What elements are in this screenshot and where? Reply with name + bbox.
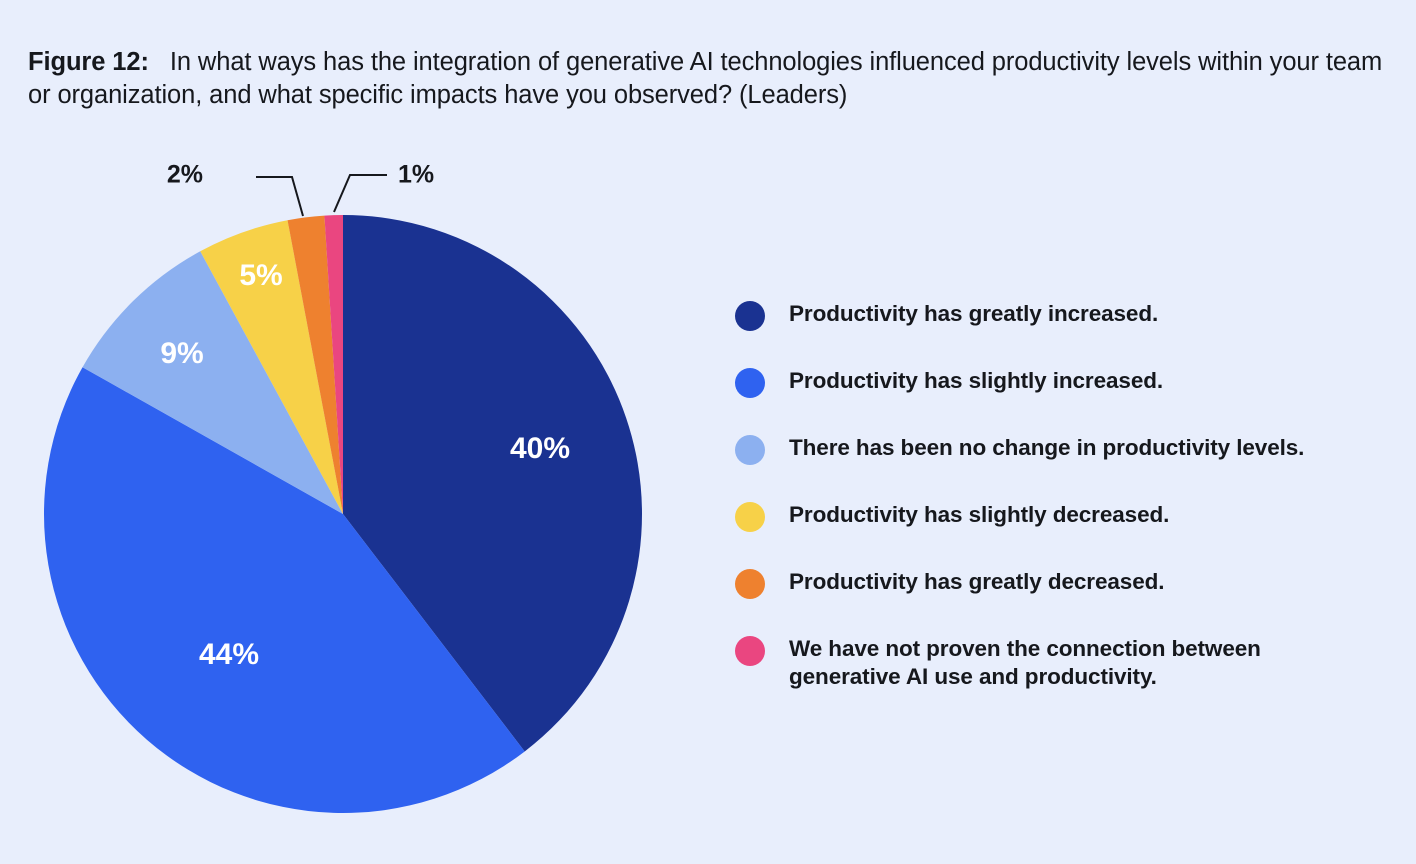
legend-item-label: We have not proven the connection betwee… (789, 635, 1261, 691)
legend-item-label: Productivity has slightly increased. (789, 367, 1163, 395)
pie-chart-svg: 40% 44% 9% 5% 2% 1% (0, 130, 700, 864)
legend-dot-icon (735, 435, 765, 465)
legend-item-label: Productivity has greatly increased. (789, 300, 1158, 328)
legend-item-not-proven[interactable]: We have not proven the connection betwee… (735, 635, 1405, 691)
callout-line-greatly-decreased (256, 177, 303, 216)
pie-callouts: 2% 1% (167, 161, 434, 216)
slice-value-no-change: 9% (160, 337, 203, 370)
slice-value-slightly-increased: 44% (199, 638, 259, 671)
slice-value-greatly-increased: 40% (510, 432, 570, 465)
figure-number-label: Figure 12: (28, 48, 149, 76)
legend-dot-icon (735, 368, 765, 398)
legend-dot-icon (735, 502, 765, 532)
callout-line-not-proven (334, 175, 387, 212)
pie-slices (44, 215, 642, 813)
legend-item-label: Productivity has slightly decreased. (789, 501, 1169, 529)
legend-item-slightly-increased[interactable]: Productivity has slightly increased. (735, 367, 1405, 398)
figure-question-text: In what ways has the integration of gene… (28, 48, 1382, 109)
legend-dot-icon (735, 636, 765, 666)
legend-item-greatly-decreased[interactable]: Productivity has greatly decreased. (735, 568, 1405, 599)
legend-dot-icon (735, 569, 765, 599)
callout-value-not-proven: 1% (398, 161, 434, 189)
slice-value-slightly-decreased: 5% (239, 259, 282, 292)
legend-item-greatly-increased[interactable]: Productivity has greatly increased. (735, 300, 1405, 331)
legend-item-label: Productivity has greatly decreased. (789, 568, 1164, 596)
chart-legend: Productivity has greatly increased. Prod… (735, 300, 1405, 691)
legend-item-slightly-decreased[interactable]: Productivity has slightly decreased. (735, 501, 1405, 532)
pie-chart-container: 40% 44% 9% 5% 2% 1% (0, 130, 700, 864)
callout-value-greatly-decreased: 2% (167, 161, 203, 189)
legend-item-label: There has been no change in productivity… (789, 434, 1304, 462)
legend-dot-icon (735, 301, 765, 331)
legend-item-no-change[interactable]: There has been no change in productivity… (735, 434, 1405, 465)
page-title: Figure 12: In what ways has the integrat… (28, 46, 1398, 112)
